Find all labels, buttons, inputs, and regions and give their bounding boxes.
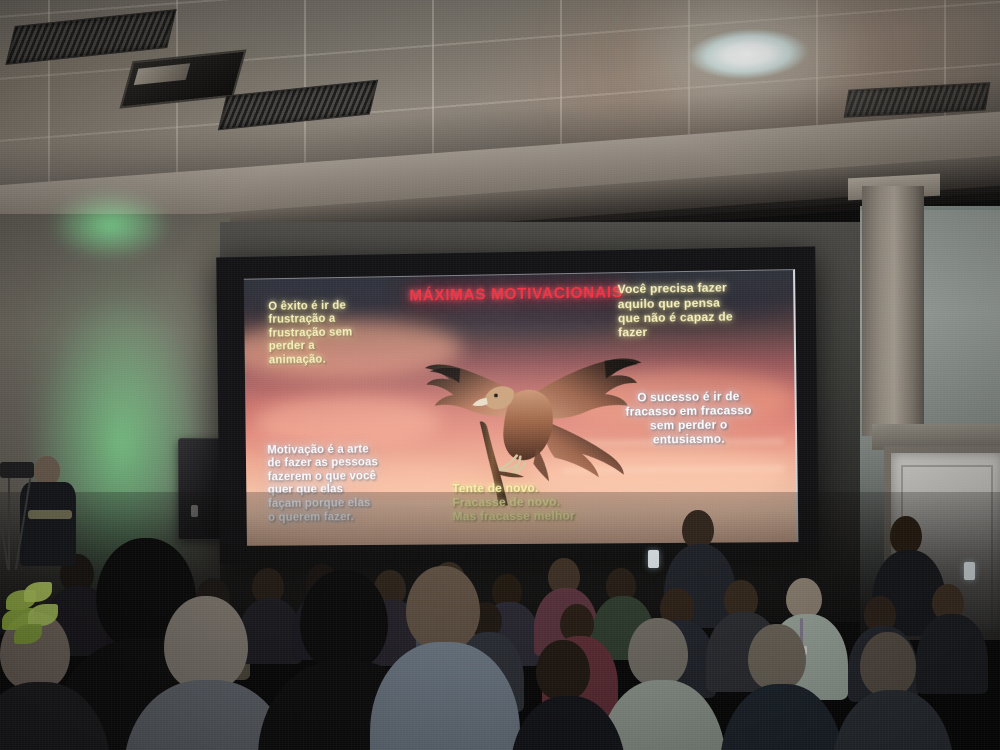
plant-leaf <box>28 604 58 626</box>
quote-top-left: O êxito é ir de frustração a frustração … <box>268 298 420 368</box>
structural-column <box>862 186 924 436</box>
branch-stub <box>499 471 524 478</box>
quote-top-right: Você precisa fazer aquilo que pensa que … <box>618 280 792 340</box>
eagle-talons <box>499 455 525 473</box>
phone-recording-screen <box>964 562 975 580</box>
green-wall-wash-hotspot <box>50 190 170 260</box>
video-camera-icon <box>0 462 34 478</box>
quote-line: entusiasmo. <box>589 432 790 448</box>
plant-leaf <box>14 624 42 644</box>
potted-plant <box>2 580 68 644</box>
quote-line: fazer <box>618 323 791 340</box>
quote-line: animação. <box>269 352 421 368</box>
audience-area <box>0 492 1000 750</box>
quote-middle-right: O sucesso é ir de fracasso em fracasso s… <box>588 390 789 448</box>
plant-leaf <box>24 582 52 602</box>
tripod-leg <box>8 478 10 570</box>
photo-scene: MÁXIMAS MOTIVACIONAIS O êxito é ir de fr… <box>0 0 1000 750</box>
operator-armband <box>28 510 72 519</box>
phone-recording-screen <box>648 550 659 568</box>
